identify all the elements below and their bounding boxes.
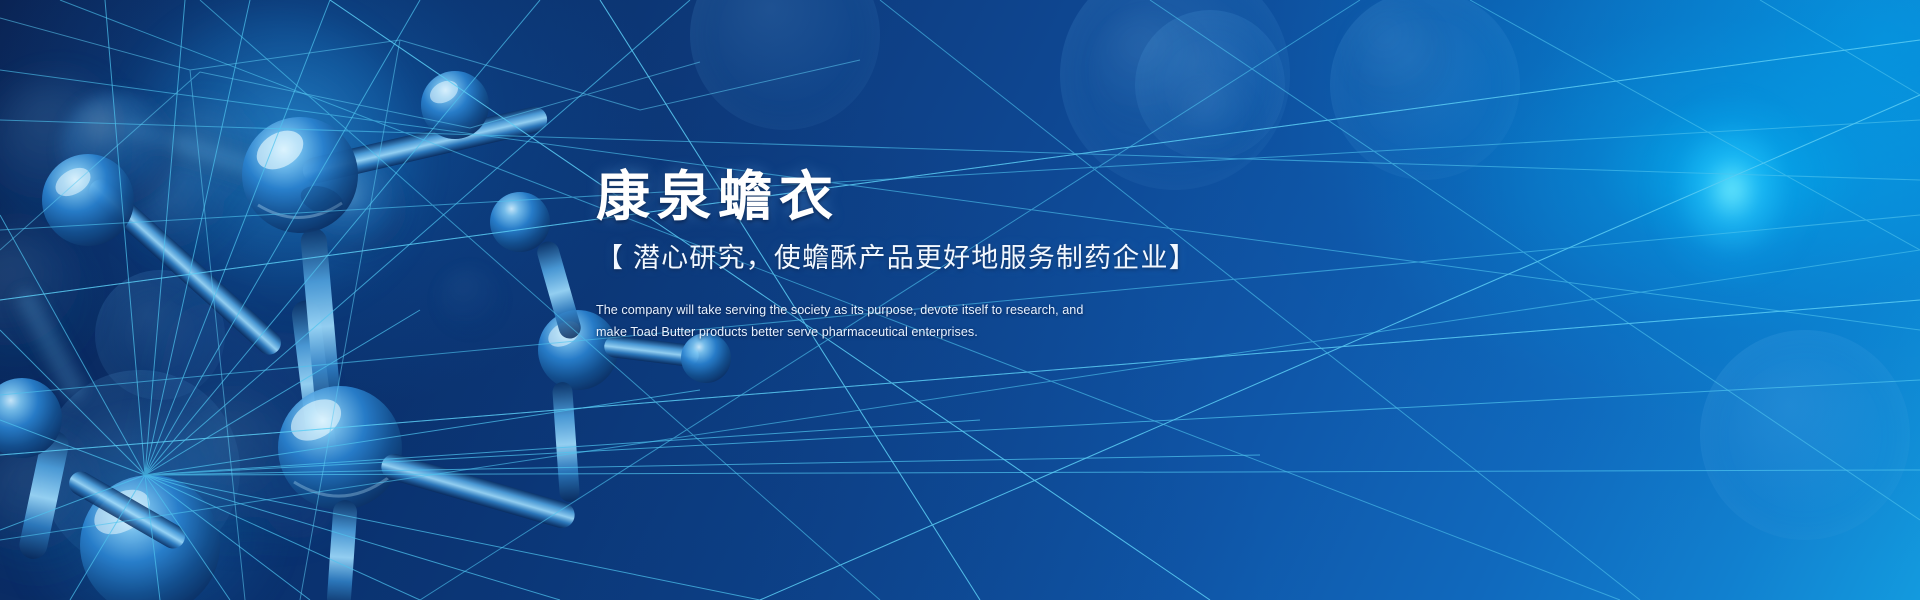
blue-light-flare-icon — [120, 10, 420, 310]
cyan-light-flare-icon — [1648, 92, 1816, 288]
page-title: 康泉蟾衣 — [596, 168, 1356, 226]
bokeh-circle — [1135, 10, 1285, 160]
hero-description-line-2: make Toad Butter products better serve p… — [596, 322, 1356, 344]
hero-description: The company will take serving the societ… — [596, 300, 1356, 343]
bokeh-circle — [690, 0, 880, 130]
hero-copy: 康泉蟾衣 【 潜心研究，使蟾酥产品更好地服务制药企业】 The company … — [596, 168, 1356, 343]
hero-banner: 康泉蟾衣 【 潜心研究，使蟾酥产品更好地服务制药企业】 The company … — [0, 0, 1920, 600]
hero-subtitle: 【 潜心研究，使蟾酥产品更好地服务制药企业】 — [596, 242, 1356, 276]
bokeh-circle — [1330, 0, 1520, 180]
hero-description-line-1: The company will take serving the societ… — [596, 300, 1356, 322]
bokeh-circle — [1060, 0, 1290, 190]
bokeh-circle — [95, 270, 225, 400]
bokeh-circle — [40, 370, 240, 570]
bokeh-circle — [1700, 330, 1910, 540]
blue-glow-bottom-left-icon — [20, 420, 280, 600]
